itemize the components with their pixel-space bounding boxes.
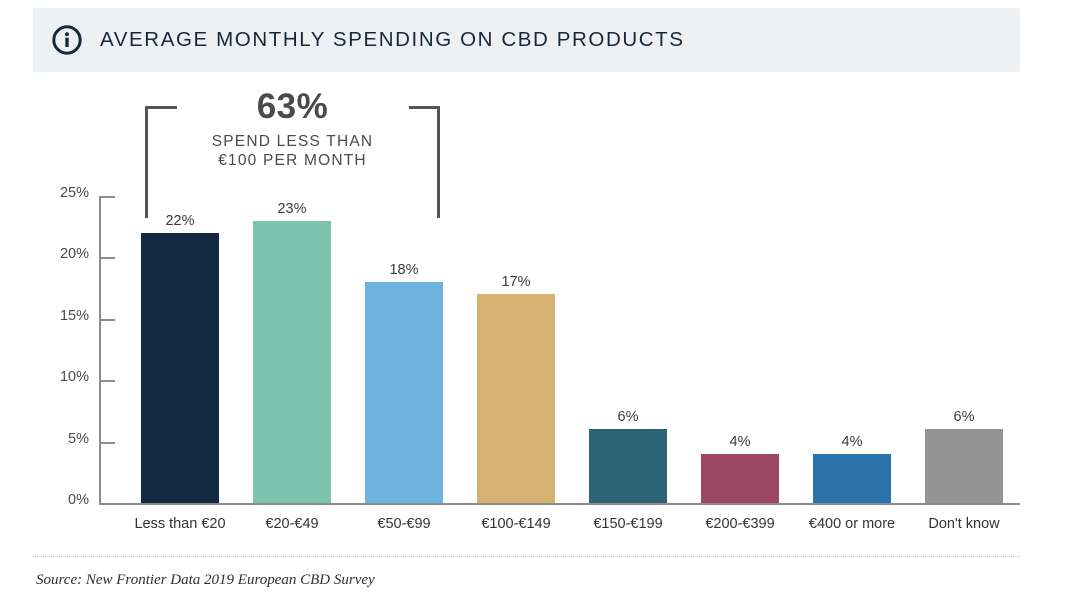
bar-value-label: 22% [124,213,236,229]
y-axis-tick: 5% [0,442,115,444]
chart-header-band: AVERAGE MONTHLY SPENDING ON CBD PRODUCTS [33,8,1020,72]
x-axis-category-label: €20-€49 [230,516,354,532]
y-axis-tick: 10% [0,380,115,382]
bar-group[interactable]: 6%Don't know [908,72,1020,550]
y-axis-tick-label: 20% [60,246,89,262]
source-note: Source: New Frontier Data 2019 European … [36,572,375,589]
bar[interactable] [925,429,1003,503]
bar-group[interactable]: 17%€100-€149 [460,72,572,550]
bar[interactable] [813,454,891,503]
y-axis-tick-label: 15% [60,308,89,324]
y-axis-tick: 25% [0,196,115,198]
y-axis-tick-mark [99,319,115,321]
y-axis-tick-mark [99,196,115,198]
y-axis-tick: 20% [0,257,115,259]
y-axis-tick-label: 10% [60,369,89,385]
bar-group[interactable]: 23%€20-€49 [236,72,348,550]
x-axis-category-label: €100-€149 [454,516,578,532]
bar-group[interactable]: 18%€50-€99 [348,72,460,550]
y-axis-tick-mark [99,503,115,505]
bar-chart: 63% SPEND LESS THAN €100 PER MONTH 25%20… [0,72,1068,550]
bar[interactable] [589,429,667,503]
bar-value-label: 6% [908,409,1020,425]
bar-value-label: 4% [796,434,908,450]
y-axis-tick-label: 0% [68,492,89,508]
bar-value-label: 4% [684,434,796,450]
bar[interactable] [701,454,779,503]
footer-divider [33,556,1020,557]
bar[interactable] [477,294,555,503]
bar-group[interactable]: 6%€150-€199 [572,72,684,550]
bar-group[interactable]: 22%Less than €20 [124,72,236,550]
bar[interactable] [141,233,219,503]
info-circle-icon [51,24,83,56]
y-axis-tick: 15% [0,319,115,321]
x-axis-category-label: Don't know [902,516,1026,532]
x-axis-category-label: €200-€399 [678,516,802,532]
bar-group[interactable]: 4%€200-€399 [684,72,796,550]
bar-value-label: 17% [460,274,572,290]
y-axis-tick: 0% [0,503,115,505]
x-axis-category-label: €50-€99 [342,516,466,532]
page-title: AVERAGE MONTHLY SPENDING ON CBD PRODUCTS [100,28,685,52]
y-axis-tick-mark [99,442,115,444]
y-axis-line [99,196,101,504]
y-axis-tick-label: 5% [68,431,89,447]
bar[interactable] [253,221,331,503]
y-axis-tick-mark [99,380,115,382]
bar-group[interactable]: 4%€400 or more [796,72,908,550]
x-axis-category-label: €150-€199 [566,516,690,532]
y-axis-tick-mark [99,257,115,259]
bar-value-label: 23% [236,201,348,217]
bar-value-label: 6% [572,409,684,425]
y-axis-tick-label: 25% [60,185,89,201]
bar-value-label: 18% [348,262,460,278]
x-axis-category-label: Less than €20 [118,516,242,532]
bar[interactable] [365,282,443,503]
x-axis-category-label: €400 or more [790,516,914,532]
